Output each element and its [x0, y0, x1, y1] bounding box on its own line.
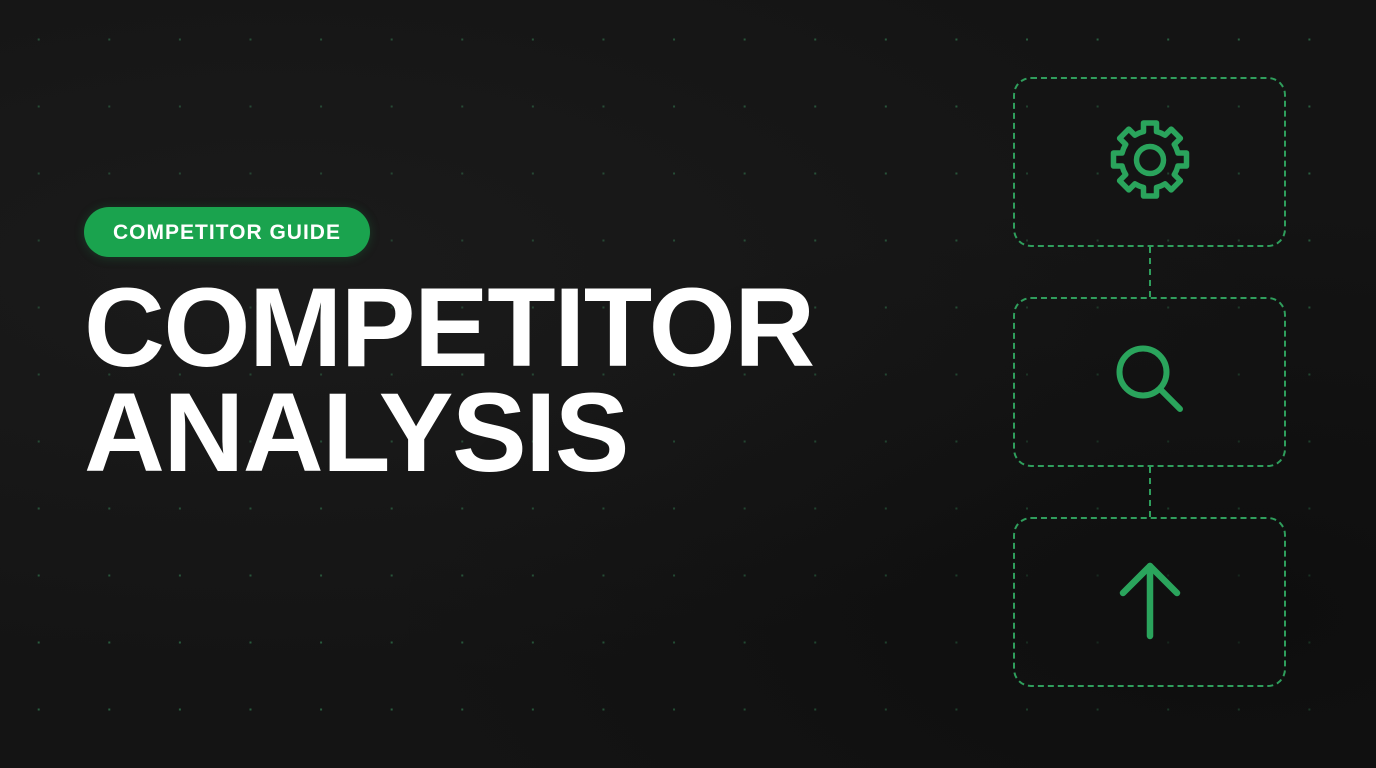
gear-icon: [1102, 112, 1198, 213]
headline-line-1: COMPETITOR: [84, 275, 884, 380]
flow-diagram: [1013, 77, 1286, 687]
headline-line-2: ANALYSIS: [84, 380, 884, 485]
growth-step[interactable]: [1013, 517, 1286, 687]
search-icon: [1102, 332, 1198, 433]
hero-text-block: COMPETITOR GUIDE COMPETITOR ANALYSIS: [84, 207, 884, 486]
eyebrow-badge-label: COMPETITOR GUIDE: [113, 222, 341, 243]
flow-connector: [1149, 247, 1151, 297]
setup-step[interactable]: [1013, 77, 1286, 247]
arrow-up-icon: [1102, 552, 1198, 653]
page-title: COMPETITOR ANALYSIS: [84, 275, 884, 486]
research-step[interactable]: [1013, 297, 1286, 467]
flow-connector: [1149, 467, 1151, 517]
slide-canvas: COMPETITOR GUIDE COMPETITOR ANALYSIS: [0, 0, 1376, 768]
eyebrow-badge: COMPETITOR GUIDE: [84, 207, 370, 257]
